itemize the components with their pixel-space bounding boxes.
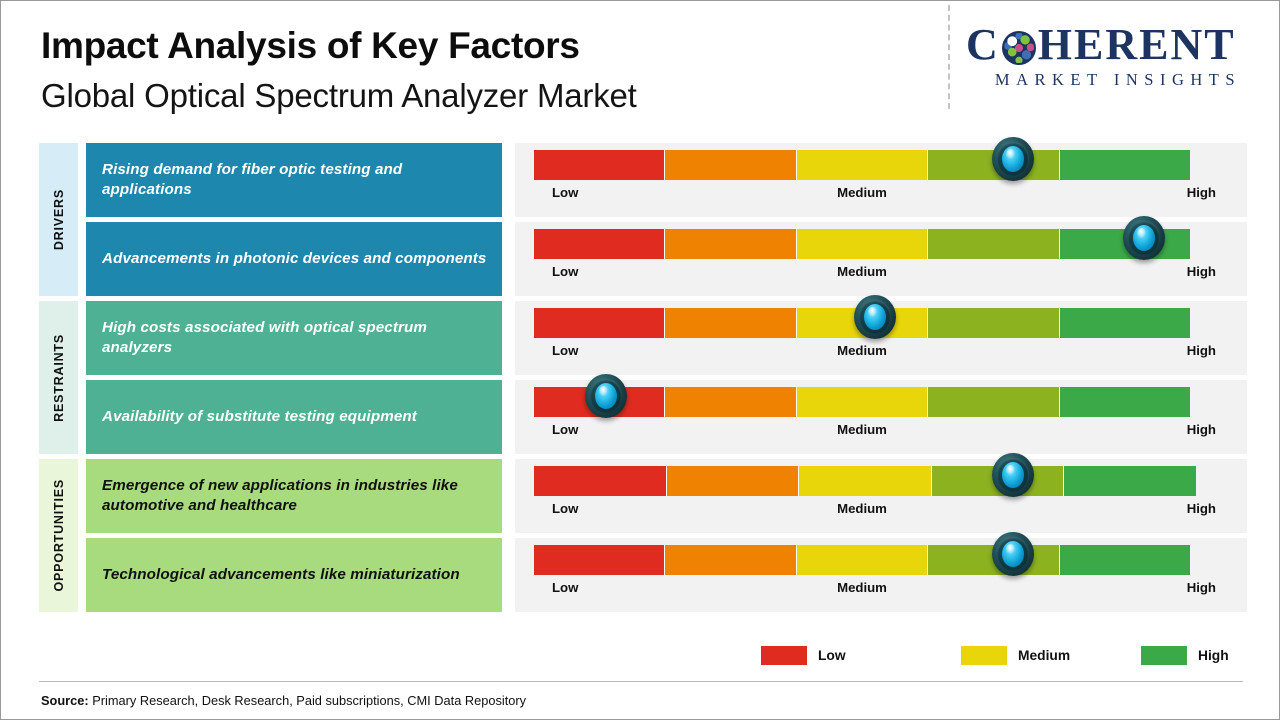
gauge-segment-5 xyxy=(1060,150,1190,180)
gauge-tick-low: Low xyxy=(552,422,578,437)
logo-tagline: MARKET INSIGHTS xyxy=(966,70,1266,90)
gauge-bar xyxy=(534,387,1190,417)
legend-item: High xyxy=(1141,646,1229,665)
gauge-ticks: LowMediumHigh xyxy=(534,501,1190,521)
page-title: Impact Analysis of Key Factors xyxy=(41,27,637,66)
gauge-segment-3 xyxy=(797,229,928,259)
legend: LowMediumHigh xyxy=(761,646,1231,670)
gauge-tick-mid: Medium xyxy=(837,422,887,437)
legend-swatch xyxy=(761,646,807,665)
gauge-ticks: LowMediumHigh xyxy=(534,185,1190,205)
impact-gauge: LowMediumHigh xyxy=(515,222,1247,296)
matrix-row: Availability of substitute testing equip… xyxy=(1,378,1279,456)
gauge-tick-mid: Medium xyxy=(837,185,887,200)
gauge-tick-low: Low xyxy=(552,264,578,279)
gauge-segment-3 xyxy=(797,387,928,417)
gauge-segment-2 xyxy=(665,387,796,417)
gauge-segment-2 xyxy=(665,308,796,338)
gauge-ticks: LowMediumHigh xyxy=(534,343,1190,363)
factor-label: Emergence of new applications in industr… xyxy=(102,476,488,516)
gauge-segment-4 xyxy=(928,545,1059,575)
gauge-tick-mid: Medium xyxy=(837,501,887,516)
factor-box[interactable]: Rising demand for fiber optic testing an… xyxy=(86,143,502,217)
legend-label: Low xyxy=(818,648,846,663)
gauge-tick-mid: Medium xyxy=(837,580,887,595)
legend-item: Low xyxy=(761,646,846,665)
impact-gauge: LowMediumHigh xyxy=(515,538,1247,612)
gauge-tick-low: Low xyxy=(552,185,578,200)
gauge-segment-3 xyxy=(797,545,928,575)
factor-label: Advancements in photonic devices and com… xyxy=(102,249,486,269)
title-block: Impact Analysis of Key Factors Global Op… xyxy=(41,27,637,115)
gauge-segment-1 xyxy=(534,545,665,575)
footer-divider xyxy=(39,681,1243,682)
matrix-row: RESTRAINTSHigh costs associated with opt… xyxy=(1,299,1279,377)
impact-gauge: LowMediumHigh xyxy=(515,459,1247,533)
gauge-segment-2 xyxy=(665,229,796,259)
infographic-page: Impact Analysis of Key Factors Global Op… xyxy=(0,0,1280,720)
gauge-segment-1 xyxy=(534,308,665,338)
gauge-bar xyxy=(534,466,1196,496)
gauge-ticks: LowMediumHigh xyxy=(534,264,1190,284)
gauge-tick-high: High xyxy=(1187,580,1216,595)
gauge-segment-3 xyxy=(797,150,928,180)
gauge-bar xyxy=(534,308,1190,338)
source-text: Primary Research, Desk Research, Paid su… xyxy=(89,693,526,708)
gauge-tick-high: High xyxy=(1187,343,1216,358)
factor-box[interactable]: Availability of substitute testing equip… xyxy=(86,380,502,454)
gauge-segment-1 xyxy=(534,466,667,496)
matrix-row: OPPORTUNITIESEmergence of new applicatio… xyxy=(1,457,1279,535)
gauge-segment-4 xyxy=(928,229,1059,259)
gauge-tick-low: Low xyxy=(552,501,578,516)
gauge-segment-5 xyxy=(1060,545,1190,575)
gauge-segment-5 xyxy=(1060,229,1190,259)
gauge-bar xyxy=(534,229,1190,259)
factor-box[interactable]: Advancements in photonic devices and com… xyxy=(86,222,502,296)
gauge-segment-4 xyxy=(932,466,1065,496)
impact-gauge: LowMediumHigh xyxy=(515,143,1247,217)
factor-label: Rising demand for fiber optic testing an… xyxy=(102,160,488,200)
gauge-tick-high: High xyxy=(1187,264,1216,279)
gauge-segment-1 xyxy=(534,387,665,417)
matrix-row: Technological advancements like miniatur… xyxy=(1,536,1279,614)
gauge-segment-5 xyxy=(1060,308,1190,338)
legend-swatch xyxy=(961,646,1007,665)
legend-item: Medium xyxy=(961,646,1070,665)
factor-label: Availability of substitute testing equip… xyxy=(102,407,417,427)
gauge-ticks: LowMediumHigh xyxy=(534,422,1190,442)
logo-letter-c: C xyxy=(966,23,1000,67)
gauge-segment-4 xyxy=(928,150,1059,180)
gauge-segment-4 xyxy=(928,387,1059,417)
impact-matrix: DRIVERSRising demand for fiber optic tes… xyxy=(1,141,1279,615)
gauge-segment-3 xyxy=(799,466,932,496)
gauge-segment-4 xyxy=(928,308,1059,338)
globe-icon xyxy=(1002,31,1036,65)
gauge-tick-mid: Medium xyxy=(837,264,887,279)
matrix-row: DRIVERSRising demand for fiber optic tes… xyxy=(1,141,1279,219)
gauge-segment-5 xyxy=(1064,466,1196,496)
legend-swatch xyxy=(1141,646,1187,665)
factor-box[interactable]: Technological advancements like miniatur… xyxy=(86,538,502,612)
gauge-segment-3 xyxy=(797,308,928,338)
gauge-bar xyxy=(534,150,1190,180)
legend-label: High xyxy=(1198,648,1229,663)
factor-box[interactable]: High costs associated with optical spect… xyxy=(86,301,502,375)
source-label: Source: xyxy=(41,693,89,708)
logo-letters-herent: HERENT xyxy=(1038,23,1236,67)
gauge-tick-low: Low xyxy=(552,580,578,595)
logo-divider xyxy=(948,5,950,109)
gauge-bar xyxy=(534,545,1190,575)
gauge-segment-1 xyxy=(534,229,665,259)
gauge-segment-1 xyxy=(534,150,665,180)
legend-label: Medium xyxy=(1018,648,1070,663)
source-note: Source: Primary Research, Desk Research,… xyxy=(41,693,526,708)
gauge-tick-high: High xyxy=(1187,422,1216,437)
gauge-segment-2 xyxy=(667,466,800,496)
factor-label: Technological advancements like miniatur… xyxy=(102,565,460,585)
gauge-segment-2 xyxy=(665,545,796,575)
impact-gauge: LowMediumHigh xyxy=(515,301,1247,375)
gauge-tick-mid: Medium xyxy=(837,343,887,358)
logo-wordmark: C HERENT xyxy=(966,23,1266,67)
gauge-segment-2 xyxy=(665,150,796,180)
page-subtitle: Global Optical Spectrum Analyzer Market xyxy=(41,77,637,115)
header: Impact Analysis of Key Factors Global Op… xyxy=(1,1,1279,131)
factor-label: High costs associated with optical spect… xyxy=(102,318,488,358)
gauge-tick-high: High xyxy=(1187,185,1216,200)
impact-gauge: LowMediumHigh xyxy=(515,380,1247,454)
company-logo: C HERENT MARKET INSIGHTS xyxy=(966,23,1266,90)
factor-box[interactable]: Emergence of new applications in industr… xyxy=(86,459,502,533)
gauge-tick-high: High xyxy=(1187,501,1216,516)
matrix-row: Advancements in photonic devices and com… xyxy=(1,220,1279,298)
gauge-tick-low: Low xyxy=(552,343,578,358)
gauge-segment-5 xyxy=(1060,387,1190,417)
gauge-ticks: LowMediumHigh xyxy=(534,580,1190,600)
